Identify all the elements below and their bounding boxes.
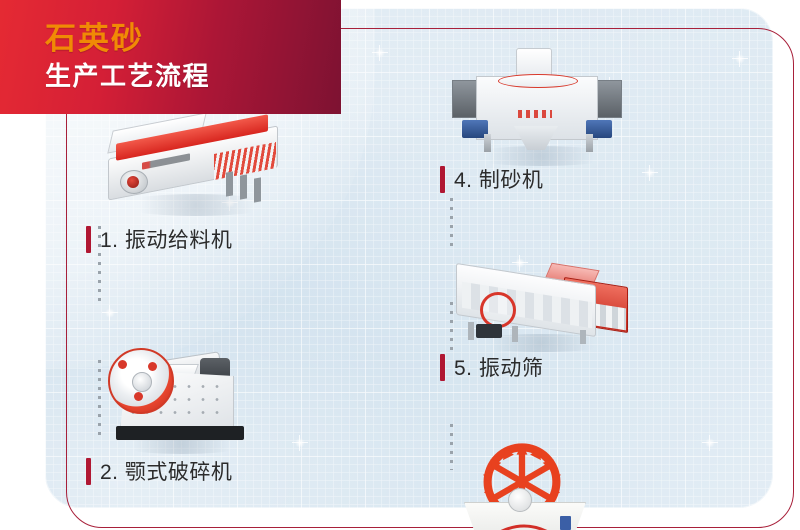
step-marker-bar (440, 354, 445, 381)
right-flow-column: 4. 制砂机 5. 振动筛 (440, 46, 740, 530)
step-marker-bar (86, 458, 91, 485)
step-label-text: 4. 制砂机 (454, 164, 543, 194)
banner-title-primary: 石英砂 (45, 22, 210, 57)
washer-brand-mark (496, 522, 552, 530)
machine-vibrating-screen-icon (440, 248, 740, 348)
title-banner: 石英砂 生产工艺流程 (0, 0, 341, 114)
flow-step-2[interactable]: 2. 颚式破碎机 (86, 334, 386, 488)
step-marker-bar (86, 226, 91, 253)
flow-step-4-label: 4. 制砂机 (440, 162, 740, 196)
flow-step-5[interactable]: 5. 振动筛 (440, 248, 740, 384)
flow-step-6[interactable]: 6. 洗砂机 (440, 436, 740, 530)
step-label-text: 5. 振动筛 (454, 352, 543, 382)
connector-dots (450, 198, 453, 252)
step-label-text: 2. 颚式破碎机 (100, 456, 232, 486)
step-label-text: 1. 振动给料机 (100, 224, 232, 254)
step-marker-bar (440, 166, 445, 193)
sparkle-icon (375, 48, 385, 58)
flow-step-4[interactable]: 4. 制砂机 (440, 46, 740, 196)
machine-jaw-crusher-icon (86, 334, 386, 452)
title-banner-text-group: 石英砂 生产工艺流程 (45, 22, 210, 92)
flow-step-1-label: 1. 振动给料机 (86, 222, 386, 256)
infographic-stage: 1. 振动给料机 2. 颚式 (0, 0, 800, 530)
flow-step-5-label: 5. 振动筛 (440, 350, 740, 384)
flow-step-1[interactable]: 1. 振动给料机 (86, 108, 386, 256)
machine-sand-maker-icon (440, 46, 740, 160)
machine-vibrating-feeder-icon (86, 108, 386, 220)
banner-title-secondary: 生产工艺流程 (45, 61, 210, 92)
left-flow-column: 1. 振动给料机 2. 颚式 (86, 108, 386, 530)
machine-sand-washer-icon (440, 436, 740, 530)
flow-step-2-label: 2. 颚式破碎机 (86, 454, 386, 488)
